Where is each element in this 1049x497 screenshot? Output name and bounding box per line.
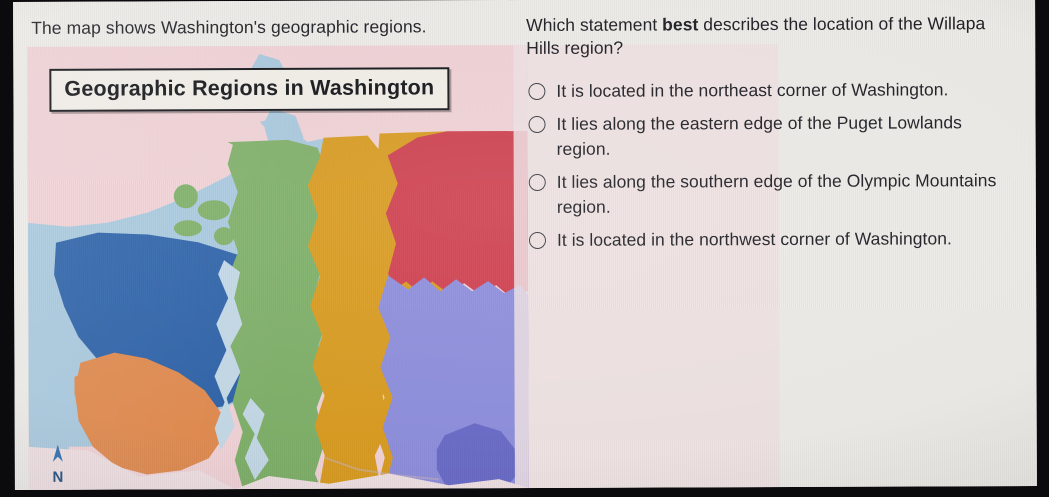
region-okanogan-highlands (386, 131, 529, 298)
answer-option[interactable]: It is located in the northwest corner of… (527, 226, 1022, 253)
compass-rose: N (43, 444, 73, 484)
answer-option[interactable]: It lies along the eastern edge of the Pu… (526, 110, 1021, 162)
radio-button-icon[interactable] (529, 174, 546, 191)
question-stem: Which statement best describes the locat… (526, 12, 986, 60)
question-stem-emphasis: best (662, 14, 698, 34)
answer-option-label: It lies along the southern edge of the O… (557, 168, 1005, 220)
map-title-text: Geographic Regions in Washington (64, 75, 434, 100)
washington-map-graphic (27, 45, 529, 490)
island-san-juan-4 (214, 227, 234, 245)
north-arrow-icon (48, 444, 68, 466)
screen-surface: The map shows Washington's geographic re… (13, 0, 1037, 490)
question-stem-part1: Which statement (526, 14, 662, 35)
question-panel: Which statement best describes the locat… (526, 12, 1022, 261)
radio-button-icon[interactable] (529, 116, 546, 133)
map-prompt-text: The map shows Washington's geographic re… (31, 16, 483, 38)
island-san-juan-3 (174, 220, 202, 236)
answer-options-list: It is located in the northeast corner of… (526, 77, 1022, 253)
compass-north-label: N (43, 471, 73, 484)
answer-option-label: It is located in the northeast corner of… (556, 77, 1004, 104)
answer-option-label: It lies along the eastern edge of the Pu… (556, 110, 1004, 162)
answer-option[interactable]: It is located in the northeast corner of… (526, 77, 1021, 104)
radio-button-icon[interactable] (528, 83, 545, 100)
answer-option[interactable]: It lies along the southern edge of the O… (527, 168, 1022, 220)
page-surface: The map shows Washington's geographic re… (13, 0, 1037, 490)
island-san-juan-2 (198, 200, 230, 220)
answer-option-label: It is located in the northwest corner of… (557, 226, 1005, 253)
photographed-screen: The map shows Washington's geographic re… (0, 0, 1049, 497)
island-san-juan-1 (174, 184, 198, 208)
radio-button-icon[interactable] (529, 232, 546, 249)
washington-regions-map-image: Geographic Regions in Washington N (27, 45, 529, 490)
map-title-box: Geographic Regions in Washington (49, 67, 449, 112)
